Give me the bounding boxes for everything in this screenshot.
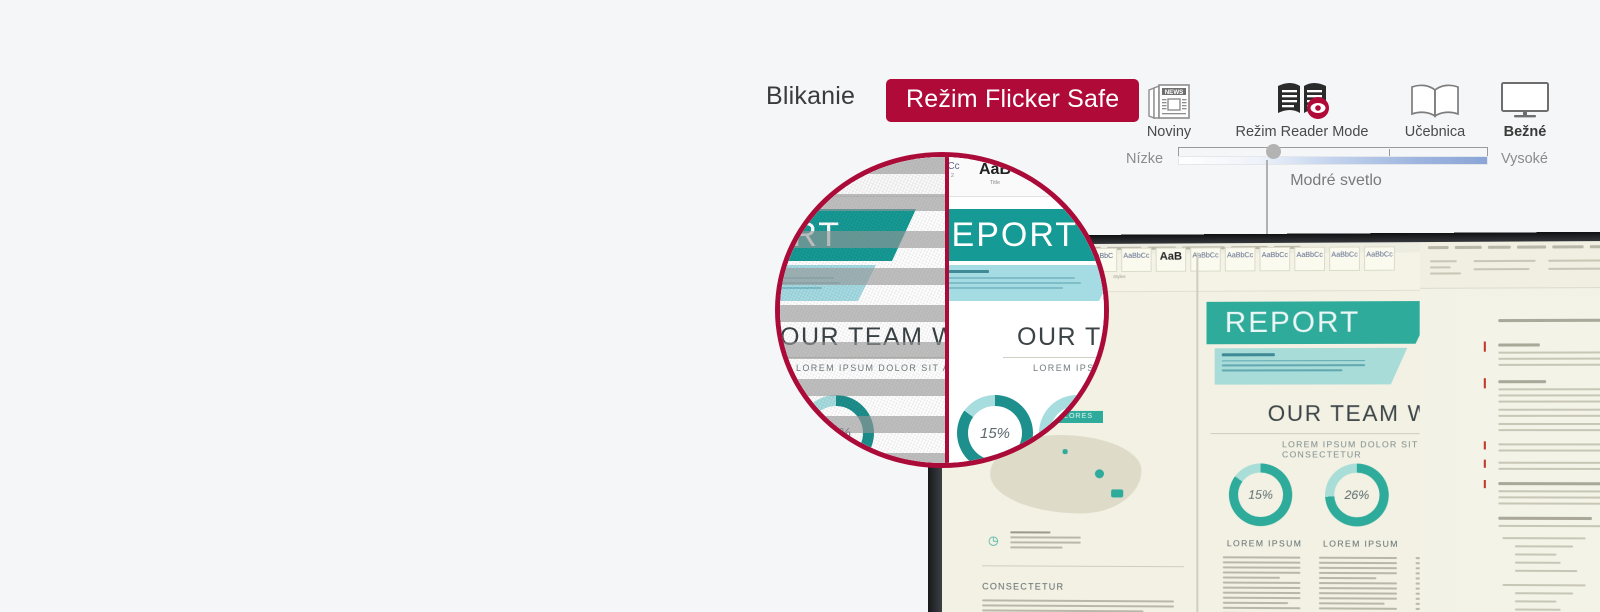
style-cell[interactable]: AaBbCc [1225,247,1256,271]
style-name: Subtle Em... [1093,173,1109,179]
mode-item-reader-mode[interactable]: Režim Reader Mode [1214,74,1390,140]
donut-label: LOREM IPSUM [1323,538,1399,548]
donut-value: 15% [968,406,1022,460]
paragraph [982,599,1174,612]
mode-label: Noviny [1126,124,1212,140]
slider-high-label: Vysoké [1501,151,1548,167]
styles-group-label: Styles [1113,274,1125,279]
svg-text:NEWS: NEWS [1165,89,1184,96]
mode-item-bezne[interactable]: Bežné [1482,74,1568,140]
style-cell[interactable]: AaBbCc [1121,248,1151,272]
newspaper-icon: NEWS [1126,74,1212,120]
donut-value: 15% [1238,472,1283,517]
donut-chart: 15% [1229,463,1292,526]
style-sample: AaBbCc [1261,252,1290,259]
slider-low-label: Nízke [1126,151,1163,167]
magnified-page-flicker-safe: AaBbCcHeading 2 AaBTitle AaBbCcSubtitle … [947,157,1109,463]
paragraph [1223,556,1301,612]
styles-group-label: Styles [1037,183,1052,189]
magnifier-half-flicker-safe: AaBbCcHeading 2 AaBTitle AaBbCcSubtitle … [947,157,1109,463]
report-banner-tail [880,209,916,261]
word-ribbon: AaBbCcSubtitle AaBbCcSubtle Em... AaBbCc… [780,157,947,197]
word-ribbon: AaBbCcHeading 2 AaBTitle AaBbCcSubtitle … [947,157,1109,197]
style-name: Intense E... [830,173,867,179]
flicker-safe-badge: Režim Flicker Safe [886,79,1139,122]
style-cell[interactable]: AaBbCc [1329,247,1360,271]
report-banner: REPORT [947,209,1109,261]
donut-chart: 15% [957,395,1033,463]
slider-caption: Modré svetlo [1126,172,1546,190]
report-subtitle-tail [848,265,876,301]
style-sample: AaBbCc [1122,253,1150,260]
report-subtitle-box [1215,348,1381,385]
report-banner: REPORT [1206,301,1401,344]
style-cell[interactable]: AaBbCc [1260,247,1291,271]
report-subtitle-box [780,265,848,301]
style-sample: AaBbCc [1330,252,1359,259]
style-sample: AaB [1157,251,1185,263]
style-cell[interactable]: AaB [1156,247,1186,271]
slider-handle[interactable] [1266,144,1281,159]
style-cell[interactable]: AaBbCc [1364,246,1395,271]
style-name: Emphasis [780,173,807,179]
donut-chart: 26% [1325,464,1389,527]
mode-label: Učebnica [1392,124,1478,140]
donut-value: 15% [780,406,783,460]
flicker-label: Blikanie [766,82,855,111]
magnified-page-flicker: AaBbCcSubtitle AaBbCcSubtle Em... AaBbCc… [780,157,947,463]
style-sample: AaBbCc [1365,251,1394,258]
report-banner: REPORT [780,209,880,261]
promo-stage: Blikanie Režim Flicker Safe NEWS [0,0,1600,612]
section-title: OUR TEAM WORK [1017,323,1109,352]
donut-chart: 26% [798,395,874,463]
style-sample: AaBbCc [780,161,807,172]
mode-icon-row: NEWS Noviny [1126,74,1546,144]
style-sample: AaBbCc [830,161,867,172]
donut-value: 26% [1334,473,1379,518]
report-subtitle-box [947,265,1089,301]
word-ribbon-right [1420,241,1600,289]
divider [780,357,947,358]
footer-heading: CONSECTETUR [982,581,1064,591]
paragraph [1319,557,1397,612]
reader-mode-book-eye-icon [1214,74,1390,120]
open-book-icon [1392,74,1478,120]
word-window-right [1420,241,1600,612]
section-subtitle: LOREM IPSUM DOLOR SIT AMET, CONSECTETUR [1033,363,1109,373]
report-subtitle-tail [1381,348,1408,385]
style-cell[interactable]: AaBbCc [1190,247,1221,271]
donut-label: LOREM IPSUM [1227,538,1302,548]
style-name: Title [979,180,1011,186]
divider [1003,357,1109,358]
magnifier-split-divider [945,157,949,463]
icon-caption [1010,531,1081,551]
document-body-right [1457,296,1600,612]
mode-item-ucebnica[interactable]: Učebnica [1392,74,1478,140]
section-subtitle: LOREM IPSUM DOLOR SIT AMET, CONSECTETUR [796,363,947,373]
mode-item-noviny[interactable]: NEWS Noviny [1126,74,1212,140]
monitor-icon [1482,74,1568,120]
page-split-divider [1196,252,1198,612]
style-sample: AaBbCc [1093,161,1109,172]
report-title: REPORT [947,216,1078,255]
style-sample: AaBbCc [1226,252,1255,259]
mode-label: Režim Reader Mode [1214,124,1390,140]
map-marker [1111,489,1123,497]
clock-icon: ◷ [988,533,999,547]
style-cell[interactable]: AaBbCc [1294,247,1325,271]
section-title: OUR TEAM WORK [780,323,947,352]
style-sample: AaB [979,161,1011,179]
report-title: REPORT [780,216,841,255]
style-name: Subtitle [1033,173,1070,179]
mode-label: Bežné [1482,124,1568,140]
comparison-magnifier: AaBbCcSubtitle AaBbCcSubtle Em... AaBbCc… [775,152,1109,468]
donut-chart: 26% [1039,395,1109,463]
slider-track[interactable] [1178,156,1488,165]
style-sample: AaBbCc [1033,161,1070,172]
doc-title [1498,319,1600,323]
donut-value: 26% [809,406,863,460]
divider [982,565,1184,567]
donut-value: 26% [1050,406,1104,460]
blue-light-slider[interactable]: Nízke Vysoké Modré svetlo [1126,146,1546,192]
report-title: REPORT [1206,306,1360,340]
donut-chart: 15% [780,395,794,463]
slider-rail [1178,147,1488,156]
magnifier-half-flicker: AaBbCcSubtitle AaBbCcSubtle Em... AaBbCc… [780,157,947,463]
map-marker [1095,469,1104,478]
style-sample: AaBbCc [1295,252,1324,259]
